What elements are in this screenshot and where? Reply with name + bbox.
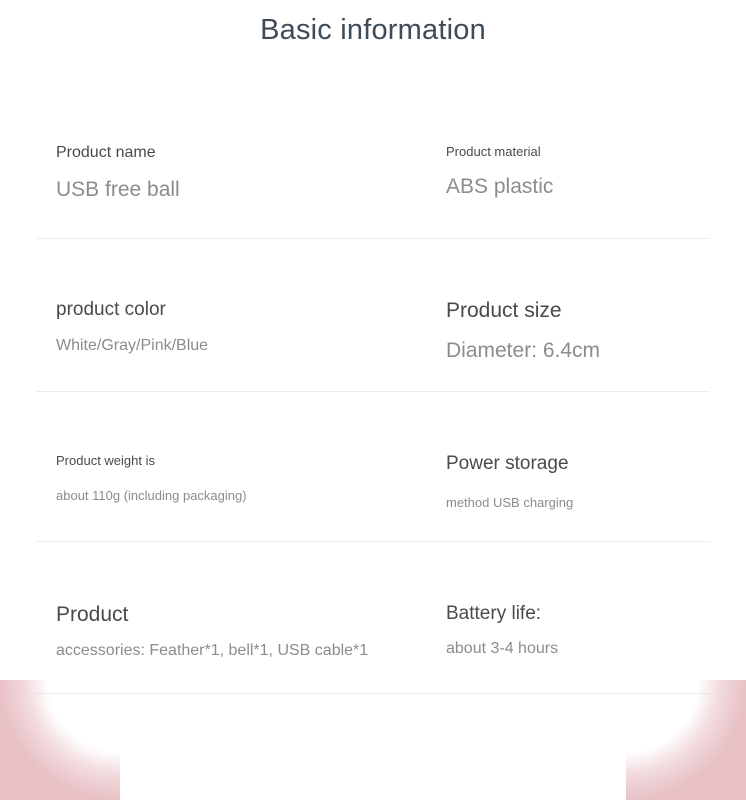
specification-table: Product name USB free ball Product mater… [0,131,746,693]
spec-cell-product-weight: Product weight is about 110g (including … [0,391,407,503]
spec-label: Product size [446,299,746,323]
spec-cell-product-name: Product name USB free ball [0,131,407,202]
table-row: Product name USB free ball Product mater… [0,131,746,239]
spec-value: about 3-4 hours [446,640,746,658]
spec-cell-product-accessories: Product accessories: Feather*1, bell*1, … [0,543,407,660]
spec-cell-product-color: product color White/Gray/Pink/Blue [0,239,407,355]
spec-value: ABS plastic [446,175,746,199]
spec-cell-power-storage: Power storage method USB charging [407,391,746,510]
spec-cell-battery-life: Battery life: about 3-4 hours [407,543,746,658]
spec-value: method USB charging [446,495,746,510]
table-row: Product weight is about 110g (including … [0,391,746,543]
spec-value: White/Gray/Pink/Blue [56,337,407,355]
row-divider [36,693,710,694]
spec-label: Product [56,603,407,627]
table-row: Product accessories: Feather*1, bell*1, … [0,543,746,693]
spec-label: Product weight is [56,453,407,468]
spec-value: about 110g (including packaging) [56,488,407,503]
corner-tint-bottom-right [626,680,746,800]
spec-cell-product-size: Product size Diameter: 6.4cm [407,239,746,363]
spec-value: USB free ball [56,178,407,202]
spec-label: Product material [446,144,746,159]
corner-tint-bottom-left [0,680,120,800]
row-divider [36,541,710,542]
spec-label: Power storage [446,453,746,475]
spec-value: Diameter: 6.4cm [446,339,746,363]
spec-cell-product-material: Product material ABS plastic [407,131,746,199]
spec-label: Battery life: [446,603,746,625]
spec-value: accessories: Feather*1, bell*1, USB cabl… [56,642,407,660]
spec-label: Product name [56,144,407,162]
page-title: Basic information [0,14,746,47]
product-spec-page: Basic information Product name USB free … [0,0,746,800]
table-row: product color White/Gray/Pink/Blue Produ… [0,239,746,391]
spec-label: product color [56,299,407,321]
